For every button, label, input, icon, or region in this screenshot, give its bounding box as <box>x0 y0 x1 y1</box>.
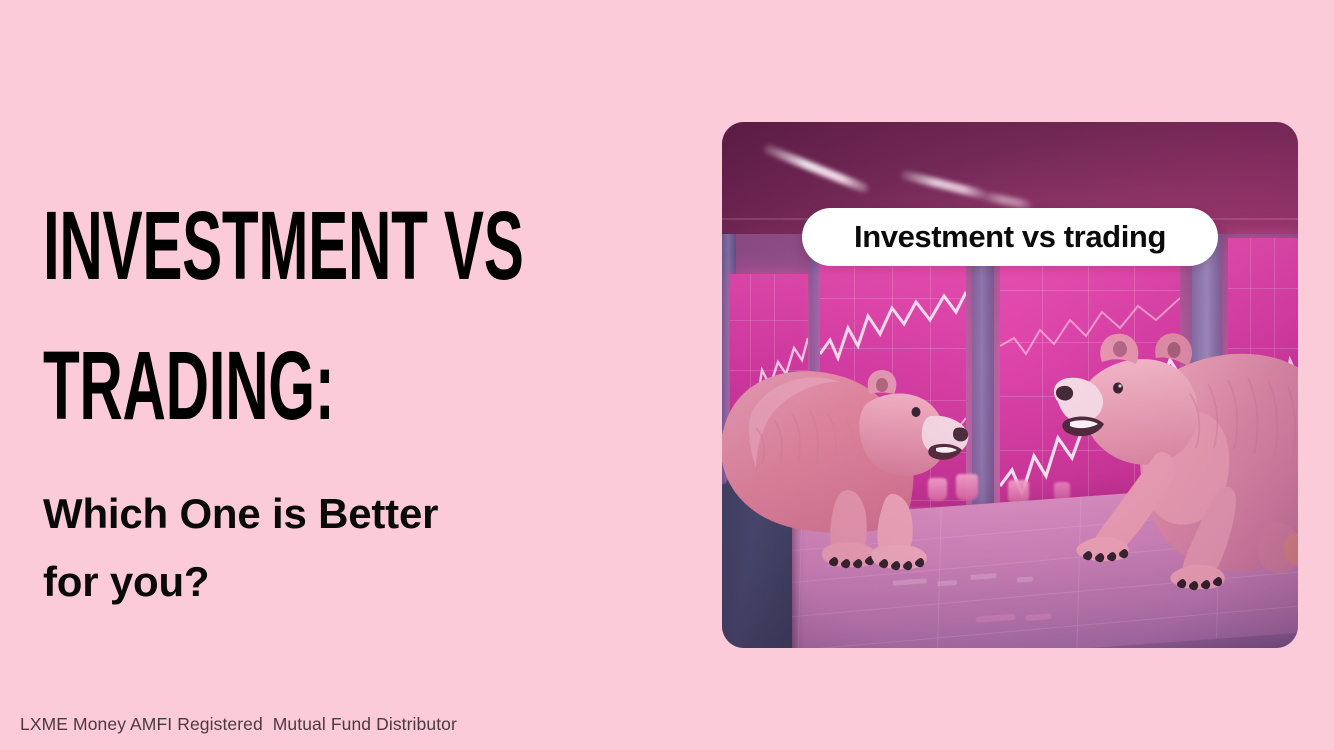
footer-disclaimer: LXME Money AMFI Registered Mutual Fund D… <box>20 714 457 735</box>
page-subtitle-line-2: for you? <box>43 548 663 616</box>
ceiling-light-icon <box>900 170 986 200</box>
ceiling-light-icon <box>762 143 869 193</box>
illustration-card: Investment vs trading <box>722 122 1298 648</box>
text-column: INVESTMENT VS TRADING: Which One is Bett… <box>43 176 663 616</box>
page-subtitle-line-1: Which One is Better <box>43 480 663 548</box>
slide-canvas: INVESTMENT VS TRADING: Which One is Bett… <box>0 0 1334 750</box>
bear-left <box>722 308 976 588</box>
page-title-line-1: INVESTMENT VS <box>43 176 427 316</box>
bear-left-illustration <box>722 308 976 588</box>
bear-right <box>1040 284 1298 614</box>
page-title-line-2: TRADING: <box>43 316 427 456</box>
image-caption-text: Investment vs trading <box>854 219 1166 255</box>
bear-right-illustration <box>1040 284 1298 614</box>
image-caption-pill: Investment vs trading <box>802 208 1218 266</box>
page-subtitle: Which One is Better for you? <box>43 456 663 616</box>
